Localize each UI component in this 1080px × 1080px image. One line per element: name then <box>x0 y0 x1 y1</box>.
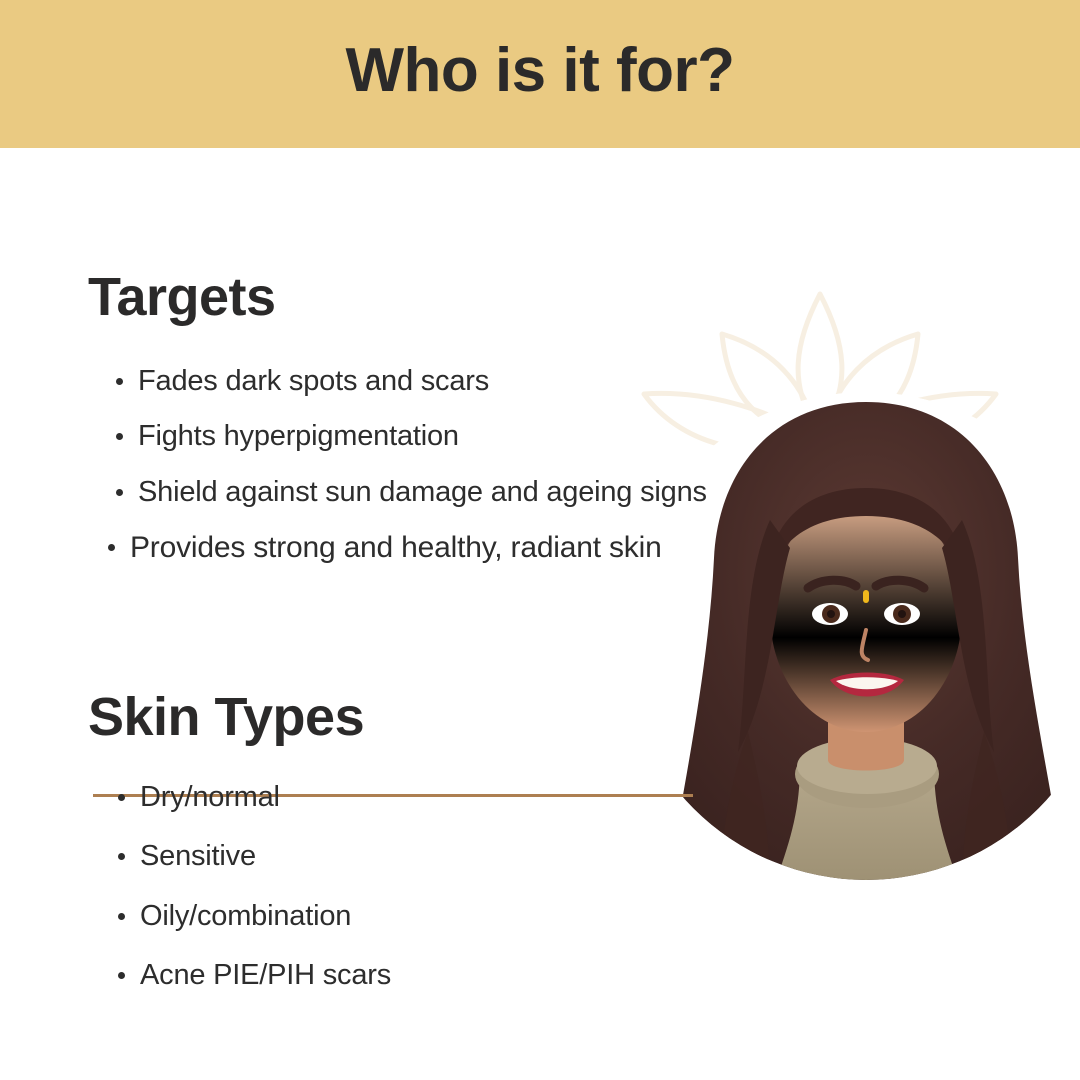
skin-types-bullet-list: Dry/normal Sensitive Oily/combination Ac… <box>114 780 634 1018</box>
section-heading-skin-types: Skin Types <box>88 690 364 744</box>
targets-bullet-list: Fades dark spots and scars Fights hyperp… <box>112 364 752 587</box>
slide-canvas: Who is it for? <box>0 0 1080 1080</box>
header-band: Who is it for? <box>0 0 1080 148</box>
content-area: Targets Fades dark spots and scars Fight… <box>0 148 1080 1080</box>
list-item: Sensitive <box>114 839 634 874</box>
list-item: Dry/normal <box>114 780 634 815</box>
page-title: Who is it for? <box>345 40 734 108</box>
list-item: Fades dark spots and scars <box>112 364 752 399</box>
list-item: Acne PIE/PIH scars <box>114 958 634 993</box>
list-item: Oily/combination <box>114 899 634 934</box>
list-item: Shield against sun damage and ageing sig… <box>112 475 752 510</box>
list-item: Fights hyperpigmentation <box>112 419 752 454</box>
list-item: Provides strong and healthy, radiant ski… <box>104 530 770 567</box>
section-heading-targets: Targets <box>88 270 276 324</box>
